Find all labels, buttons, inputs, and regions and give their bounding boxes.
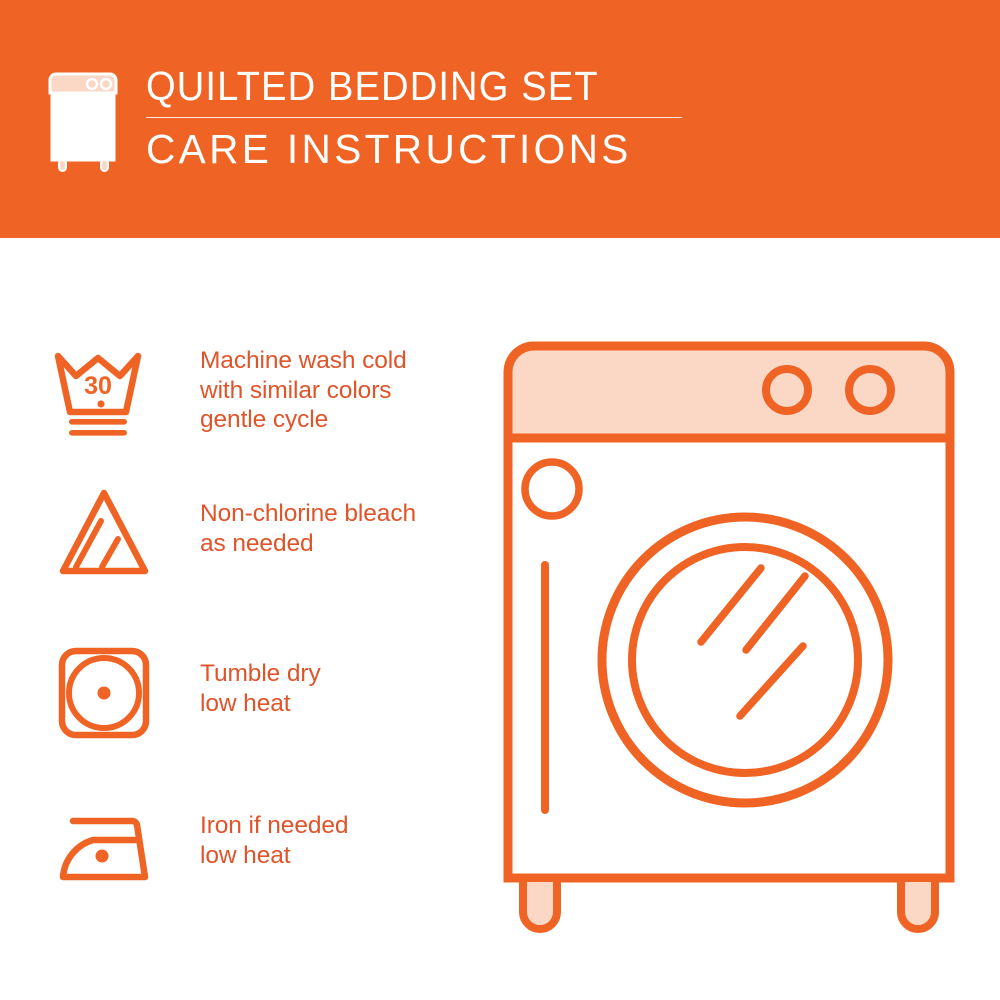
- care-item-label: Tumble dry low heat: [200, 641, 321, 718]
- tumble-dry-low-heat-icon: [52, 641, 156, 745]
- gentle-bar-1: [69, 419, 127, 425]
- care-item-bleach: Non-chlorine bleach as needed: [52, 481, 416, 585]
- care-item-label: Iron if needed low heat: [200, 793, 348, 870]
- control-knob-right[interactable]: [849, 369, 891, 411]
- header-banner: QUILTED BEDDING SET CARE INSTRUCTIONS: [0, 0, 1000, 238]
- wash-tub-30-gentle-icon: 30: [52, 342, 156, 446]
- washing-machine-illustration: [480, 320, 980, 950]
- indicator-light: [525, 462, 579, 516]
- care-item-iron: Iron if needed low heat: [52, 793, 348, 897]
- page-title: QUILTED BEDDING SET: [146, 64, 644, 108]
- title-divider: [146, 117, 682, 118]
- care-item-label: Machine wash cold with similar colors ge…: [200, 342, 407, 435]
- care-item-machine-wash: 30 Machine wash cold with similar colors…: [52, 342, 407, 446]
- iron-heat-dot: [96, 850, 109, 863]
- bleach-stripe-2: [102, 539, 118, 567]
- iron-low-heat-icon: [52, 793, 156, 897]
- header-content: QUILTED BEDDING SET CARE INSTRUCTIONS: [46, 64, 682, 174]
- care-item-tumble-dry: Tumble dry low heat: [52, 641, 321, 745]
- header-title-block: QUILTED BEDDING SET CARE INSTRUCTIONS: [146, 64, 682, 172]
- care-instruction-list: 30 Machine wash cold with similar colors…: [0, 238, 480, 1000]
- door-inner-ring: [632, 547, 858, 773]
- non-chlorine-bleach-triangle-icon: [52, 481, 156, 585]
- page-subtitle: CARE INSTRUCTIONS: [146, 126, 677, 172]
- machine-leg-right: [901, 878, 935, 929]
- wash-temperature-label: 30: [84, 372, 112, 400]
- control-knob-left[interactable]: [766, 369, 808, 411]
- wash-heat-dot: [97, 400, 104, 407]
- washing-machine-icon: [46, 66, 124, 174]
- machine-leg-left: [523, 878, 557, 929]
- gentle-bar-2: [69, 430, 127, 436]
- dry-heat-dot: [98, 687, 111, 700]
- care-item-label: Non-chlorine bleach as needed: [200, 481, 416, 558]
